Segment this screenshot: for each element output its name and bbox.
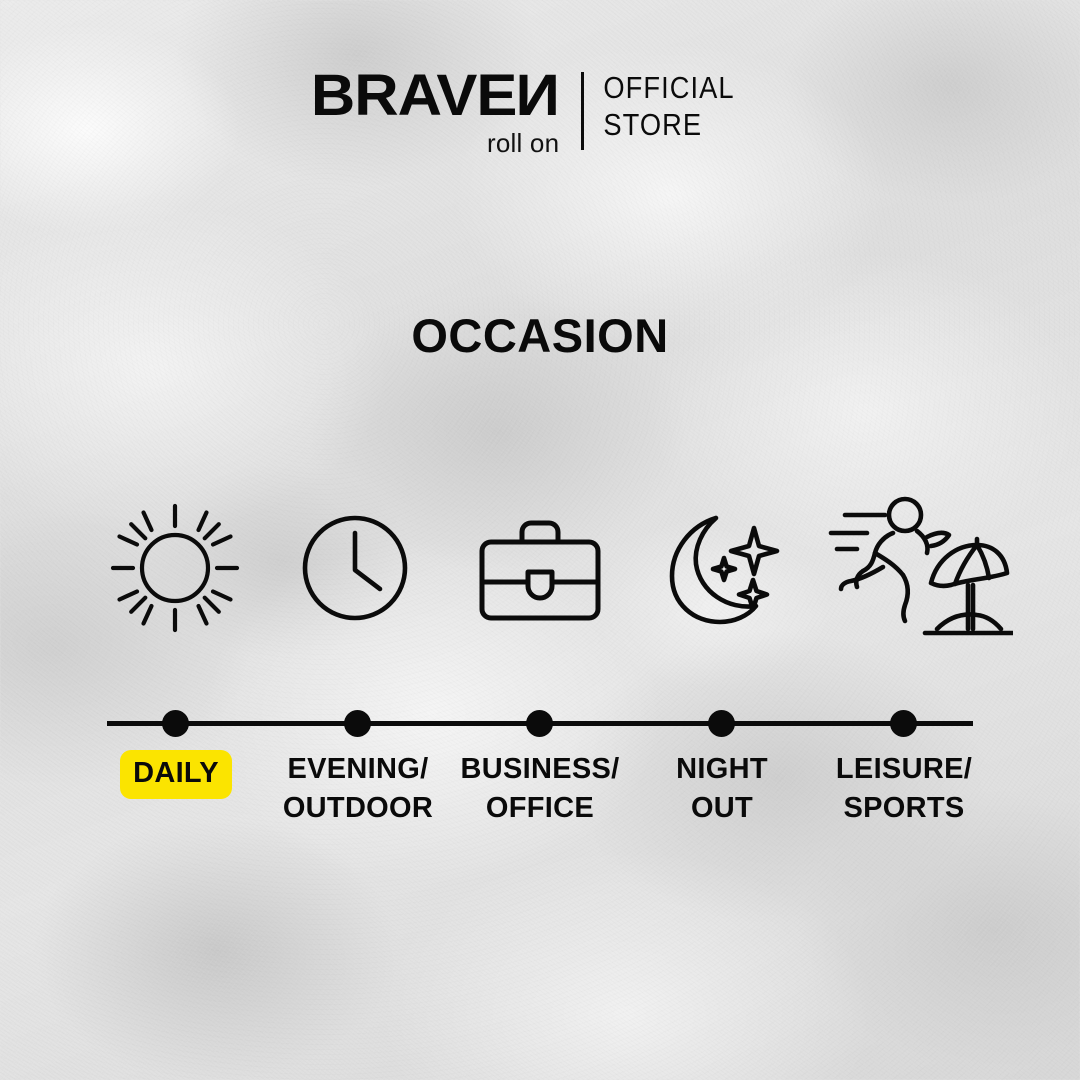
timeline-dot-business[interactable]: [526, 710, 553, 737]
sun-icon: [107, 500, 243, 636]
runner-umbrella-icon: [827, 493, 1013, 643]
timeline-axis: [107, 708, 973, 738]
timeline-label-evening[interactable]: EVENING/ OUTDOOR: [263, 750, 453, 827]
timeline-label-leisure-line1: LEISURE/: [809, 750, 999, 789]
timeline-label-leisure[interactable]: LEISURE/ SPORTS: [809, 750, 999, 827]
timeline-icon-cell-daily: [100, 478, 250, 658]
timeline-label-business[interactable]: BUSINESS/ OFFICE: [445, 750, 635, 827]
page-title: OCCASION: [0, 308, 1080, 363]
timeline-label-evening-line1: EVENING/: [263, 750, 453, 789]
timeline-label-evening-line2: OUTDOOR: [263, 789, 453, 828]
timeline-label-night[interactable]: NIGHT OUT: [627, 750, 817, 827]
timeline-label-daily[interactable]: DAILY: [81, 750, 271, 799]
official-store-badge: OFFICIAL STORE: [584, 70, 735, 143]
briefcase-icon: [476, 512, 604, 624]
timeline-label-business-line1: BUSINESS/: [445, 750, 635, 789]
timeline-label-business-line2: OFFICE: [445, 789, 635, 828]
timeline-dot-evening[interactable]: [344, 710, 371, 737]
brand-wordmark: BRAVEN: [311, 68, 560, 124]
timeline-icon-row: [107, 478, 973, 668]
timeline-label-night-line1: NIGHT: [627, 750, 817, 789]
clock-icon: [296, 509, 414, 627]
brand-logo-left: BRAVEN roll on: [325, 68, 582, 159]
brand-wordmark-flipped-n: N: [516, 68, 559, 124]
timeline-icon-cell-business: [465, 478, 615, 658]
timeline-label-night-line2: OUT: [627, 789, 817, 828]
timeline-icon-cell-night: [647, 478, 797, 658]
brand-logo: BRAVEN roll on OFFICIAL STORE: [0, 68, 1080, 159]
poster-canvas: BRAVEN roll on OFFICIAL STORE OCCASION: [0, 0, 1080, 1080]
timeline-icon-cell-evening: [280, 478, 430, 658]
timeline-icon-cell-leisure: [825, 478, 1015, 658]
brand-wordmark-main: BRAVE: [311, 68, 516, 124]
timeline-label-leisure-line2: SPORTS: [809, 789, 999, 828]
official-store-line-2: STORE: [604, 107, 735, 144]
timeline-label-daily-line1: DAILY: [120, 750, 232, 799]
timeline-dot-leisure[interactable]: [890, 710, 917, 737]
brand-tagline: roll on: [487, 128, 559, 159]
timeline-dot-daily[interactable]: [162, 710, 189, 737]
moon-stars-icon: [660, 506, 784, 630]
official-store-line-1: OFFICIAL: [604, 70, 735, 107]
timeline-dot-night[interactable]: [708, 710, 735, 737]
occasion-timeline: DAILY EVENING/ OUTDOOR BUSINESS/ OFFICE …: [107, 478, 973, 838]
timeline-label-row: DAILY EVENING/ OUTDOOR BUSINESS/ OFFICE …: [107, 750, 973, 850]
